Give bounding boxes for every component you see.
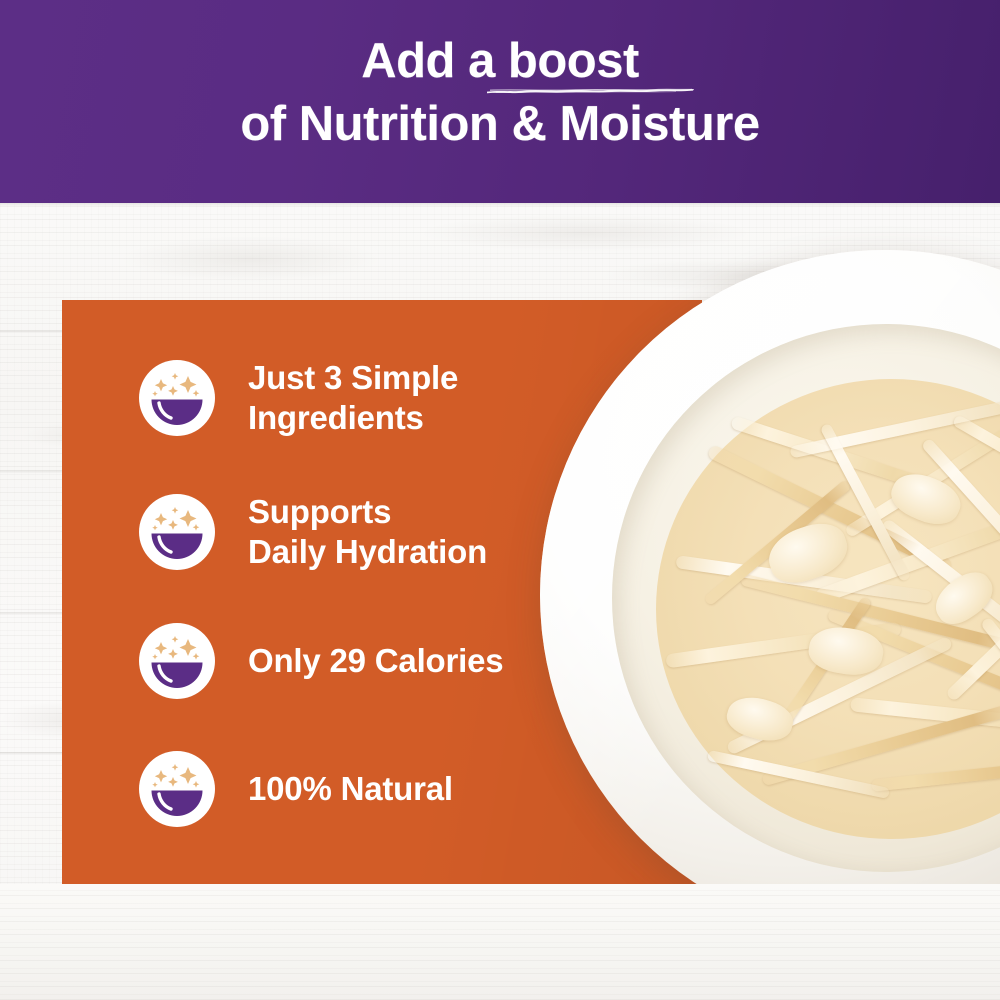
benefit-row-4: 100% Natural	[138, 750, 453, 828]
benefit-row-3: Only 29 Calories	[138, 622, 503, 700]
food-photo	[540, 250, 1000, 980]
benefit-label: Supports Daily Hydration	[248, 492, 487, 572]
sparkle-bowl-icon	[138, 493, 216, 571]
headline-line-1: Add a boost	[0, 30, 1000, 92]
brush-underline-icon	[486, 87, 698, 94]
plank-seam	[0, 203, 1000, 206]
shredded-chicken	[634, 346, 1000, 850]
wood-grain	[420, 214, 750, 252]
benefit-row-2: Supports Daily Hydration	[138, 492, 487, 572]
benefit-row-1: Just 3 Simple Ingredients	[138, 358, 458, 438]
benefit-label: Just 3 Simple Ingredients	[248, 358, 458, 438]
benefit-label: 100% Natural	[248, 769, 453, 809]
header-banner: Add a boost of Nutrition & Moisture	[0, 0, 1000, 203]
wood-foreground-strip	[0, 884, 1000, 1000]
wood-grain	[120, 236, 380, 282]
underline-container	[0, 84, 1000, 98]
benefit-label: Only 29 Calories	[248, 641, 503, 681]
promo-banner: Add a boost of Nutrition & Moisture	[0, 0, 1000, 1000]
sparkle-bowl-icon	[138, 622, 216, 700]
sparkle-bowl-icon	[138, 359, 216, 437]
sparkle-bowl-icon	[138, 750, 216, 828]
headline-line-2: of Nutrition & Moisture	[0, 92, 1000, 156]
